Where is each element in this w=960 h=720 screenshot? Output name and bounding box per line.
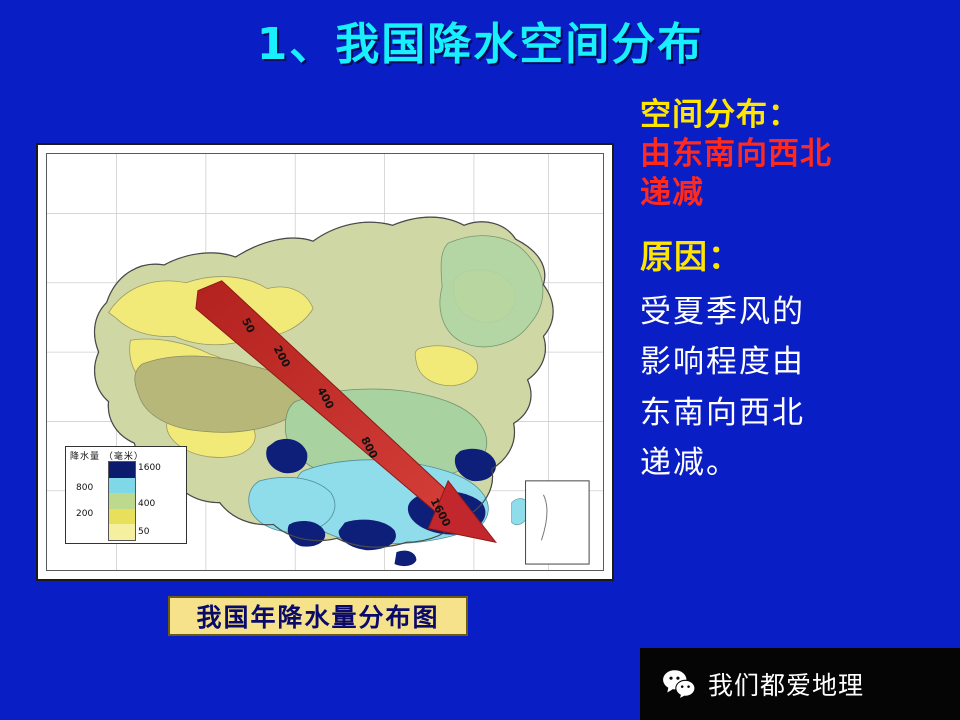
legend-label-400: 400 <box>138 499 155 509</box>
reason-label: 原因： <box>640 236 950 279</box>
legend-label-1600: 1600 <box>138 463 161 473</box>
right-text-column: 空间分布： 由东南向西北 递减 原因： 受夏季风的 影响程度由 东南向西北 递减… <box>640 96 950 488</box>
wechat-icon <box>662 667 696 701</box>
reason-line-3: 东南向西北 <box>640 388 950 438</box>
spatial-distribution-value-line1: 由东南向西北 <box>640 135 950 174</box>
map-image: 50 200 400 800 1600 降水量 （毫米） 1600 <box>46 153 604 571</box>
spatial-distribution-label: 空间分布： <box>640 96 950 135</box>
reason-line-2: 影响程度由 <box>640 337 950 387</box>
watermark-text: 我们都爱地理 <box>708 666 864 702</box>
reason-line-4: 递减。 <box>640 438 950 488</box>
map-caption: 我国年降水量分布图 <box>168 596 468 636</box>
slide-root: 1、我国降水空间分布 <box>0 0 960 720</box>
legend-label-800: 800 <box>76 483 93 493</box>
watermark-bar: 我们都爱地理 <box>640 648 960 720</box>
legend-color-bar <box>108 461 136 541</box>
legend-label-200: 200 <box>76 509 93 519</box>
map-legend: 降水量 （毫米） 1600 800 400 200 50 <box>65 446 187 544</box>
map-panel: 50 200 400 800 1600 降水量 （毫米） 1600 <box>36 143 614 581</box>
reason-body: 受夏季风的 影响程度由 东南向西北 递减。 <box>640 287 950 488</box>
spatial-distribution-value-line2: 递减 <box>640 174 950 213</box>
legend-label-50: 50 <box>138 527 149 537</box>
page-title: 1、我国降水空间分布 <box>0 8 960 72</box>
reason-line-1: 受夏季风的 <box>640 287 950 337</box>
